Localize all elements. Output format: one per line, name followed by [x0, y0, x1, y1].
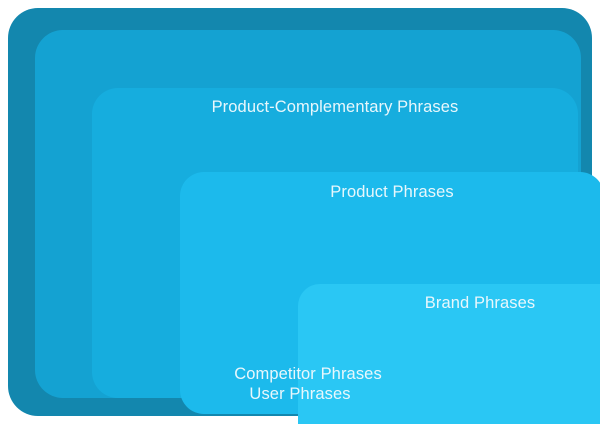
diagram-canvas: Product-Complementary Phrases Product Ph… — [0, 0, 600, 424]
layer-label-user-phrases: User Phrases — [8, 386, 592, 403]
layer-user-phrases: Product-Complementary Phrases Product Ph… — [8, 8, 592, 416]
layer-label-competitor-phrases: Competitor Phrases — [35, 366, 581, 383]
layer-label-product-complementary-phrases: Product-Complementary Phrases — [212, 99, 459, 116]
layer-label-product-phrases: Product Phrases — [330, 184, 453, 201]
layer-brand-phrases: Brand Phrases Desired Conversion Event P… — [298, 284, 600, 424]
layer-competitor-phrases: Product-Complementary Phrases Product Ph… — [35, 30, 581, 398]
layer-product-complementary-phrases: Product-Complementary Phrases Product Ph… — [92, 88, 578, 398]
layer-label-brand-phrases: Brand Phrases — [425, 295, 535, 312]
